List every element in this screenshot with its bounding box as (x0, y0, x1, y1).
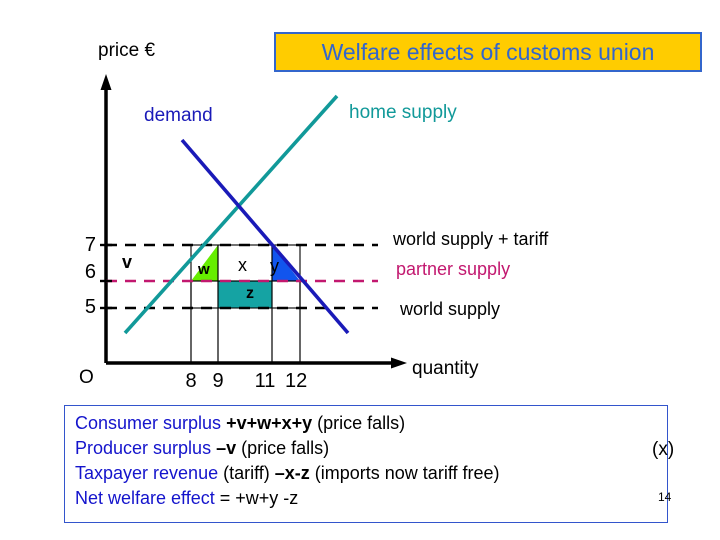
shaded-region-z (218, 281, 272, 308)
x-axis-title: quantity (412, 358, 479, 380)
y-axis-arrowhead (101, 74, 112, 90)
y-tick-label-5: 5 (76, 296, 96, 319)
note-consumer-surplus-formula: +v+w+x+y (226, 413, 312, 433)
note-net-welfare-label: Net welfare effect (75, 488, 220, 508)
curve-label-home-supply: home supply (349, 102, 457, 124)
note-taxpayer-revenue-tail: (imports now tariff free) (310, 463, 500, 483)
y-axis-title: price € (98, 40, 155, 62)
region-label-y: y (270, 256, 279, 277)
note-producer-surplus-tail: (price falls) (236, 438, 329, 458)
note-producer-surplus: Producer surplus –v (price falls) (75, 438, 329, 459)
region-label-v: v (122, 252, 132, 273)
note-consumer-surplus-label: Consumer surplus (75, 413, 226, 433)
y-tick-label-7: 7 (76, 234, 96, 257)
note-taxpayer-revenue-label: Taxpayer revenue (75, 463, 223, 483)
note-producer-surplus-label: Producer surplus (75, 438, 216, 458)
origin-label: O (79, 367, 94, 389)
line-label-world-supply-tariff: world supply + tariff (393, 229, 548, 250)
region-label-z: z (246, 285, 254, 303)
line-label-world-supply: world supply (400, 299, 500, 320)
note-taxpayer-revenue-mid: (tariff) (223, 463, 275, 483)
page-number: 14 (658, 490, 671, 504)
note-net-welfare-effect: Net welfare effect = +w+y -z (75, 488, 298, 509)
note-net-welfare-tail: = +w+y -z (220, 488, 299, 508)
note-consumer-surplus: Consumer surplus +v+w+x+y (price falls) (75, 413, 405, 434)
region-label-x: x (238, 255, 247, 276)
note-consumer-surplus-tail: (price falls) (312, 413, 405, 433)
note-taxpayer-revenue: Taxpayer revenue (tariff) –x-z (imports … (75, 463, 500, 484)
curve-label-demand: demand (144, 105, 213, 127)
x-tick-label-11: 11 (254, 370, 276, 393)
note-producer-surplus-formula: –v (216, 438, 236, 458)
line-label-partner-supply: partner supply (396, 259, 510, 280)
slide-canvas: Welfare effects of customs union (0, 0, 720, 540)
note-taxpayer-revenue-formula: –x-z (275, 463, 310, 483)
y-tick-label-6: 6 (76, 261, 96, 284)
x-tick-label-9: 9 (207, 370, 229, 393)
note-x-marker: (x) (652, 439, 674, 461)
region-label-w: w (198, 261, 210, 278)
x-tick-label-8: 8 (180, 370, 202, 393)
x-tick-label-12: 12 (285, 370, 307, 393)
x-axis-arrowhead (391, 358, 407, 369)
welfare-notes-box: Consumer surplus +v+w+x+y (price falls) … (64, 405, 668, 523)
